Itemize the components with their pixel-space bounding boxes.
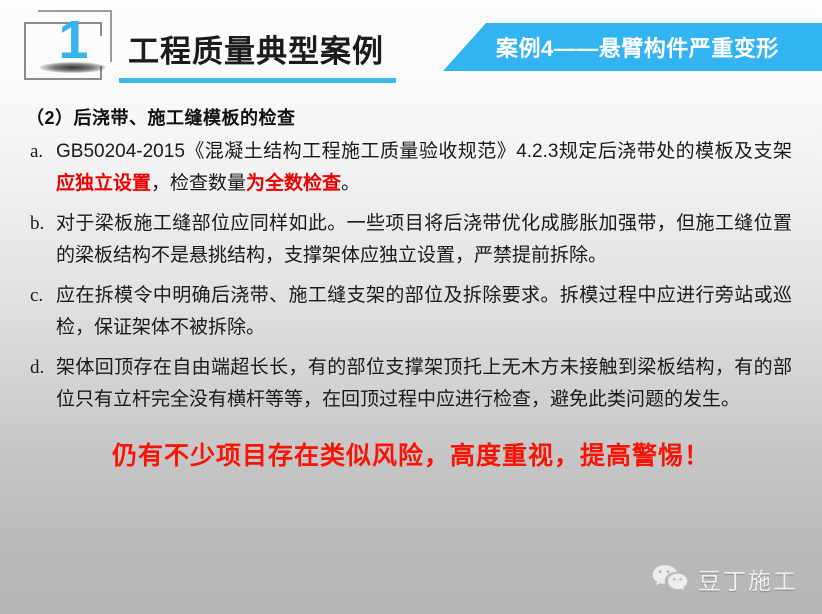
title-underline [119, 78, 396, 83]
slide-header: 1 工程质量典型案例 案例4——悬臂构件严重变形 [0, 0, 822, 92]
list-item-marker: a. [30, 136, 56, 168]
page-title: 工程质量典型案例 [128, 26, 384, 71]
list-item: a.GB50204-2015《混凝土结构工程施工质量验收规范》4.2.3规定后浇… [30, 136, 792, 200]
section-number-badge: 1 [24, 10, 128, 82]
list-item: d.架体回顶存在自由端超长长，有的部位支撑架顶托上无木方未接触到梁板结构，有的部… [30, 352, 792, 416]
plain-text: 应在拆模令中明确后浇带、施工缝支架的部位及拆除要求。拆模过程中应进行旁站或巡检，… [56, 285, 792, 338]
plain-text: GB50204-2015《混凝土结构工程施工质量验收规范》4.2.3规定后浇带处… [56, 141, 792, 162]
case-banner-label: 案例4——悬臂构件严重变形 [496, 31, 779, 63]
list-item-text: 应在拆模令中明确后浇带、施工缝支架的部位及拆除要求。拆模过程中应进行旁站或巡检，… [56, 280, 792, 344]
section-heading: （2）后浇带、施工缝模板的检查 [26, 104, 296, 130]
plain-text: 对于梁板施工缝部位应同样如此。一些项目将后浇带优化成膨胀加强带，但施工缝位置的梁… [56, 213, 792, 266]
wechat-icon [652, 564, 688, 594]
badge-number-label: 1 [50, 12, 96, 68]
list-item: c.应在拆模令中明确后浇带、施工缝支架的部位及拆除要求。拆模过程中应进行旁站或巡… [30, 280, 792, 344]
plain-text: 。 [341, 173, 360, 194]
warning-callout: 仍有不少项目存在类似风险，高度重视，提高警惕！ [0, 436, 822, 472]
list-item: b.对于梁板施工缝部位应同样如此。一些项目将后浇带优化成膨胀加强带，但施工缝位置… [30, 208, 792, 272]
list-item-text: GB50204-2015《混凝土结构工程施工质量验收规范》4.2.3规定后浇带处… [56, 136, 792, 200]
list-item-marker: b. [30, 208, 56, 240]
plain-text: ，检查数量 [151, 173, 246, 194]
watermark-label: 豆丁施工 [698, 562, 798, 596]
list-item-marker: d. [30, 352, 56, 384]
list-item-text: 对于梁板施工缝部位应同样如此。一些项目将后浇带优化成膨胀加强带，但施工缝位置的梁… [56, 208, 792, 272]
list-item-marker: c. [30, 280, 56, 312]
plain-text: 架体回顶存在自由端超长长，有的部位支撑架顶托上无木方未接触到梁板结构，有的部位只… [56, 357, 792, 410]
slide-root: 1 工程质量典型案例 案例4——悬臂构件严重变形 （2）后浇带、施工缝模板的检查… [0, 0, 822, 614]
list-item-text: 架体回顶存在自由端超长长，有的部位支撑架顶托上无木方未接触到梁板结构，有的部位只… [56, 352, 792, 416]
badge-frame-front-right-top-stub [100, 22, 102, 36]
emphasized-text: 应独立设置 [56, 173, 151, 194]
bullet-list: a.GB50204-2015《混凝土结构工程施工质量验收规范》4.2.3规定后浇… [30, 136, 792, 424]
watermark: 豆丁施工 [652, 562, 798, 596]
emphasized-text: 为全数检查 [246, 173, 341, 194]
